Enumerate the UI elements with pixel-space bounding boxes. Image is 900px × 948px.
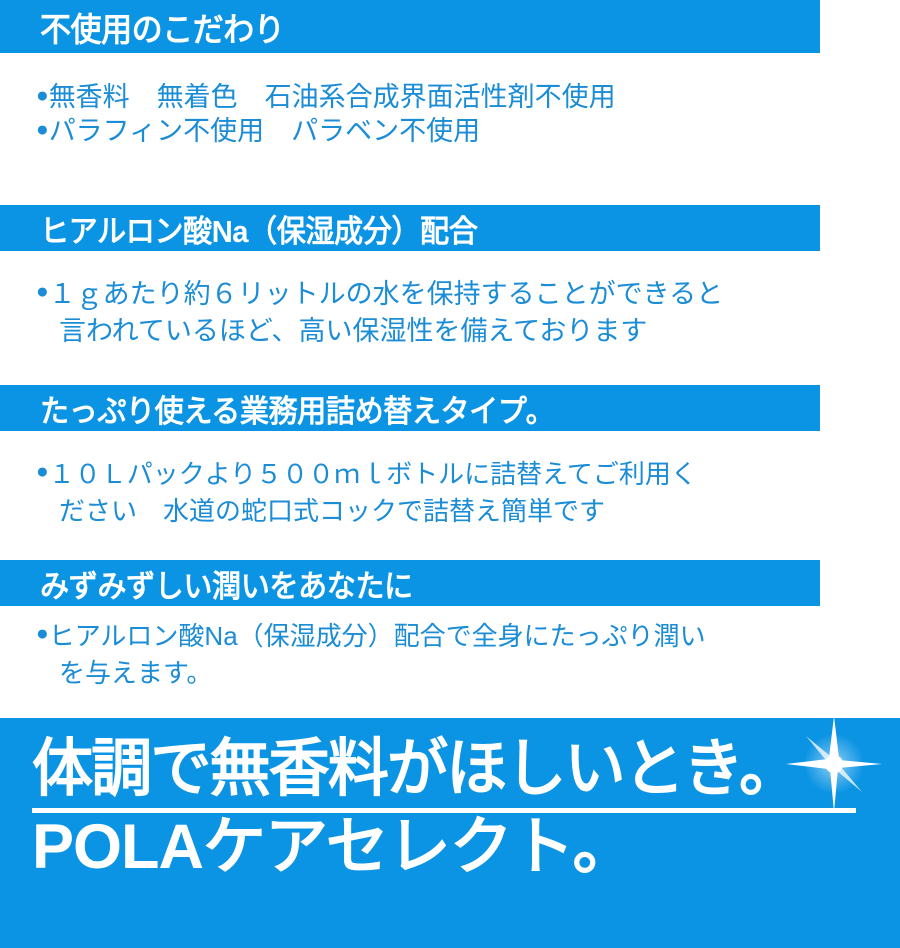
section-heading-text: みずみずしい潤いをあなたに [40, 561, 413, 606]
bullet-block-hyaluronic-acid: ● １ｇあたり約６リットルの水を保持することができると 言われているほど、高い保… [36, 276, 723, 350]
list-item-continuation: 言われているほど、高い保湿性を備えております [36, 313, 723, 350]
list-item-text: ヒアルロン酸Na（保湿成分）配合で全身にたっぷり潤い [49, 618, 706, 655]
bullet-block-moisture: ● ヒアルロン酸Na（保湿成分）配合で全身にたっぷり潤い を与えます。 [36, 618, 706, 692]
bullet-dot-icon: ● [36, 276, 49, 302]
list-item-text: 無香料 無着色 石油系合成界面活性剤不使用 [49, 80, 616, 114]
slogan-line1-wrapper: 体調で無香料がほしいとき。 [32, 738, 862, 801]
bullet-dot-icon: ● [36, 618, 49, 644]
bullet-dot-icon: ● [36, 456, 49, 482]
list-item-text: パラフィン不使用 パラベン不使用 [49, 114, 480, 148]
list-item-continuation: を与えます。 [36, 655, 706, 692]
bullet-dot-icon: ● [36, 80, 49, 106]
section-heading-text: ヒアルロン酸Na（保湿成分）配合 [40, 206, 477, 251]
section-heading-text: 不使用のこだわり [40, 3, 284, 51]
list-item-text: １ｇあたり約６リットルの水を保持することができると [49, 276, 723, 313]
section-header-hyaluronic-acid: ヒアルロン酸Na（保湿成分）配合 [0, 205, 820, 251]
section-header-moisture: みずみずしい潤いをあなたに [0, 560, 820, 606]
list-item: ● パラフィン不使用 パラベン不使用 [36, 114, 616, 148]
list-item: ● 無香料 無着色 石油系合成界面活性剤不使用 [36, 80, 616, 114]
brand-slogan-banner: 体調で無香料がほしいとき。 POLAケアセレクト。 [0, 718, 900, 948]
bullet-block-no-additives: ● 無香料 無着色 石油系合成界面活性剤不使用 ● パラフィン不使用 パラベン不… [36, 80, 616, 148]
list-item-text: １０Ｌパックより５００ｍｌボトルに詰替えてご利用く [49, 456, 697, 493]
list-item-continuation: ださい 水道の蛇口式コックで詰替え簡単です [36, 493, 697, 530]
list-item: ● ヒアルロン酸Na（保湿成分）配合で全身にたっぷり潤い [36, 618, 706, 655]
section-heading-text: たっぷり使える業務用詰め替えタイプ。 [40, 386, 554, 431]
product-feature-graphic: 不使用のこだわり ● 無香料 無着色 石油系合成界面活性剤不使用 ● パラフィン… [0, 0, 900, 948]
section-header-no-additives: 不使用のこだわり [0, 0, 820, 53]
slogan-line1: 体調で無香料がほしいとき。 [32, 738, 837, 801]
list-item: ● １０Ｌパックより５００ｍｌボトルに詰替えてご利用く [36, 456, 697, 493]
section-header-refill-type: たっぷり使える業務用詰め替えタイプ。 [0, 385, 820, 431]
list-item: ● １ｇあたり約６リットルの水を保持することができると [36, 276, 723, 313]
slogan-line2-brand: POLAケアセレクト。 [32, 816, 634, 879]
bullet-dot-icon: ● [36, 114, 49, 140]
bullet-block-refill-type: ● １０Ｌパックより５００ｍｌボトルに詰替えてご利用く ださい 水道の蛇口式コッ… [36, 456, 697, 530]
